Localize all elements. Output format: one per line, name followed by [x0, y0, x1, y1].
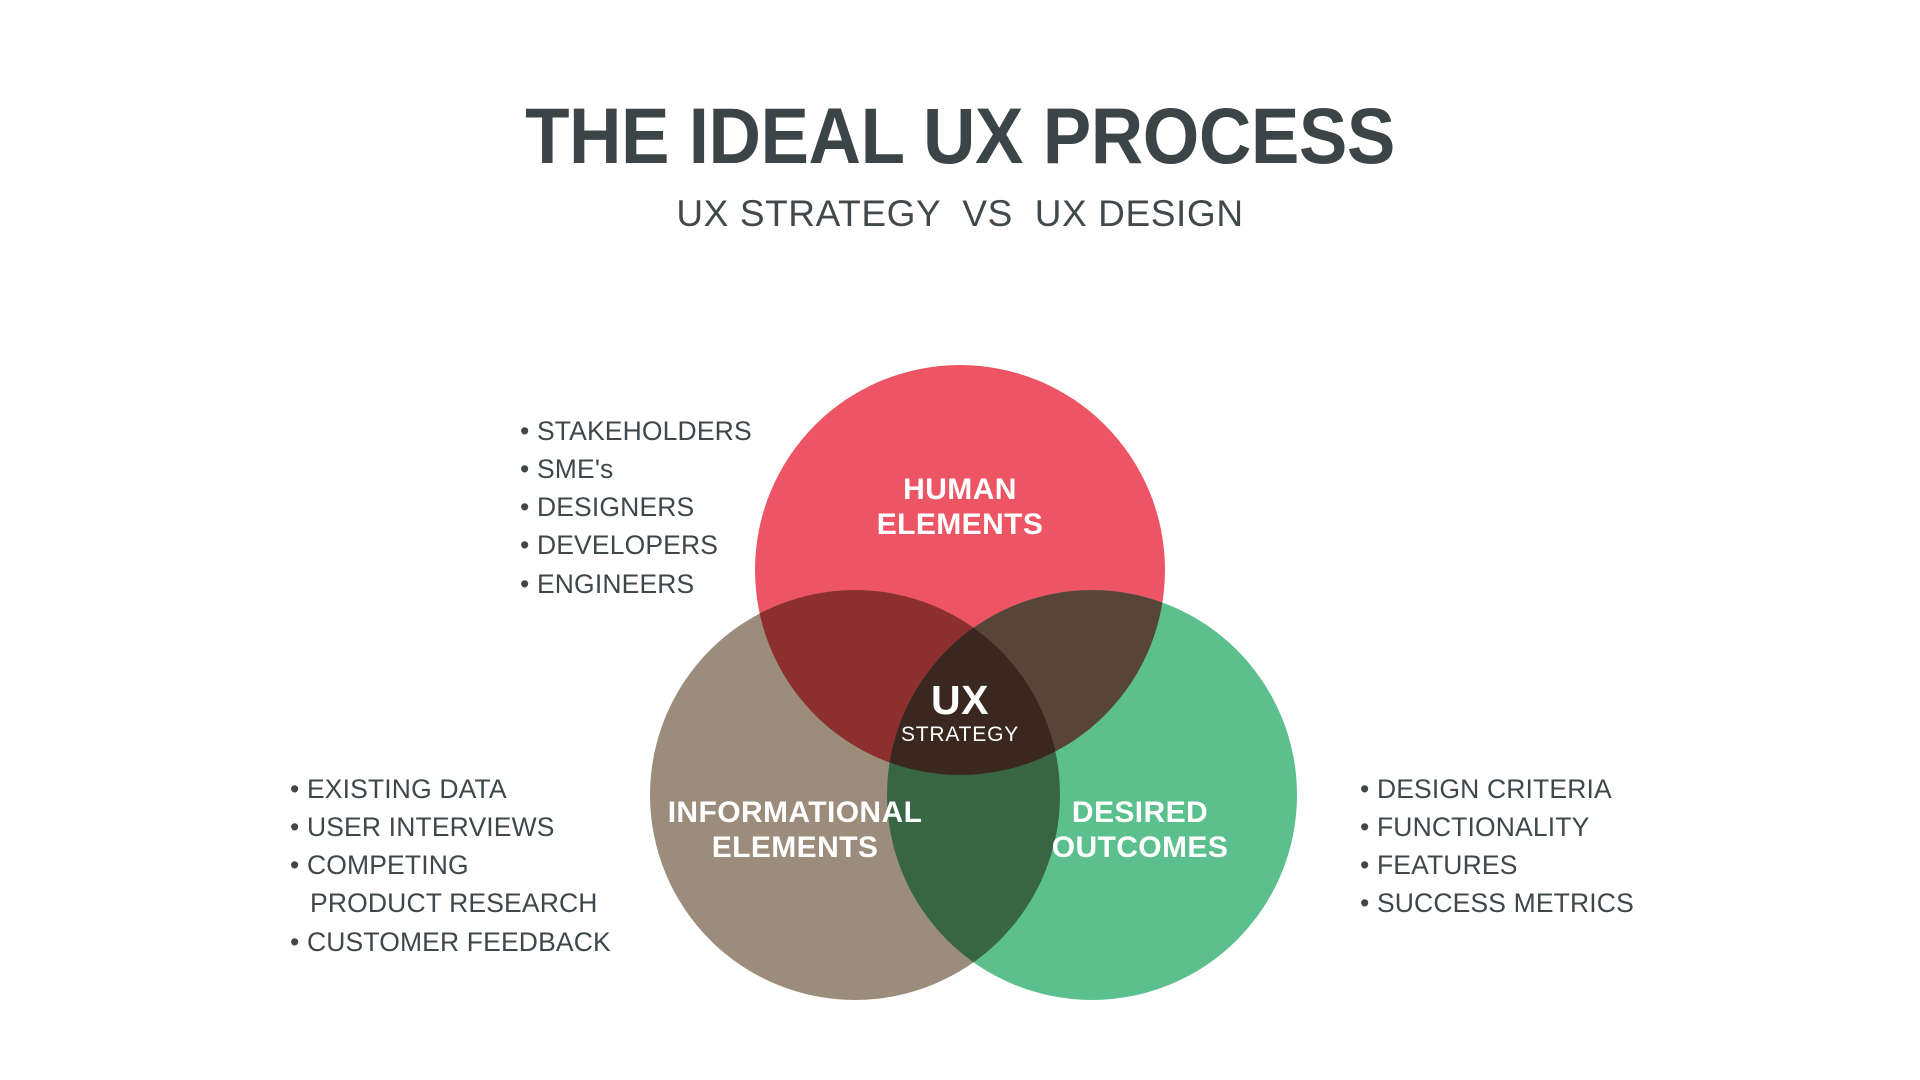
bullet-list-desired-outcomes: • DESIGN CRITERIA • FUNCTIONALITY • FEAT…: [1360, 770, 1660, 923]
list-item: • EXISTING DATA: [290, 770, 620, 808]
list-item: • CUSTOMER FEEDBACK: [290, 923, 620, 961]
list-item: • STAKEHOLDERS: [520, 412, 820, 450]
list-item-continuation: PRODUCT RESEARCH: [290, 884, 620, 922]
list-item: • SME's: [520, 450, 820, 488]
list-item: • DEVELOPERS: [520, 526, 820, 564]
bullet-list-human-elements: • STAKEHOLDERS • SME's • DESIGNERS • DEV…: [520, 412, 820, 603]
list-item: • FUNCTIONALITY: [1360, 808, 1660, 846]
list-item: • COMPETING: [290, 846, 620, 884]
bullet-list-informational-elements: • EXISTING DATA • USER INTERVIEWS • COMP…: [290, 770, 620, 961]
infographic-canvas: THE IDEAL UX PROCESS UX STRATEGY VS UX D…: [0, 0, 1920, 1080]
list-item: • DESIGNERS: [520, 488, 820, 526]
list-item: • FEATURES: [1360, 846, 1660, 884]
list-item: • SUCCESS METRICS: [1360, 884, 1660, 922]
list-item: • DESIGN CRITERIA: [1360, 770, 1660, 808]
list-item: • USER INTERVIEWS: [290, 808, 620, 846]
list-item: • ENGINEERS: [520, 565, 820, 603]
